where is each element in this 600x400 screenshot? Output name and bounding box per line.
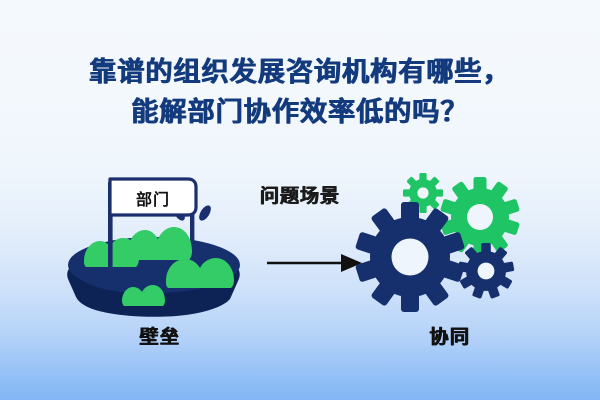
title-line-2: 能解部门协作效率低的吗？ (0, 92, 600, 132)
illustration-scene: 问题场景 (0, 155, 600, 365)
caption-collaboration: 协同 (390, 322, 510, 349)
gears-svg (358, 175, 523, 315)
title-line-1: 靠谱的组织发展咨询机构有哪些， (0, 52, 600, 92)
gears-illustration (358, 175, 523, 315)
page-title: 靠谱的组织发展咨询机构有哪些， 能解部门协作效率低的吗？ (0, 52, 600, 132)
caption-barrier: 壁垒 (100, 322, 220, 349)
island-illustration: 部门 (62, 173, 252, 318)
poster-canvas: 靠谱的组织发展咨询机构有哪些， 能解部门协作效率低的吗？ 问题场景 (0, 0, 600, 400)
gear-large-navy-icon (355, 202, 465, 312)
flag-label: 部门 (114, 184, 192, 212)
gear-small-navy-icon (458, 243, 515, 299)
transition-arrow (265, 250, 365, 276)
bush-center (128, 227, 192, 260)
problem-scene-label: 问题场景 (240, 181, 360, 208)
flag-label-text: 部门 (136, 186, 170, 210)
right-arrow-icon (265, 250, 365, 276)
